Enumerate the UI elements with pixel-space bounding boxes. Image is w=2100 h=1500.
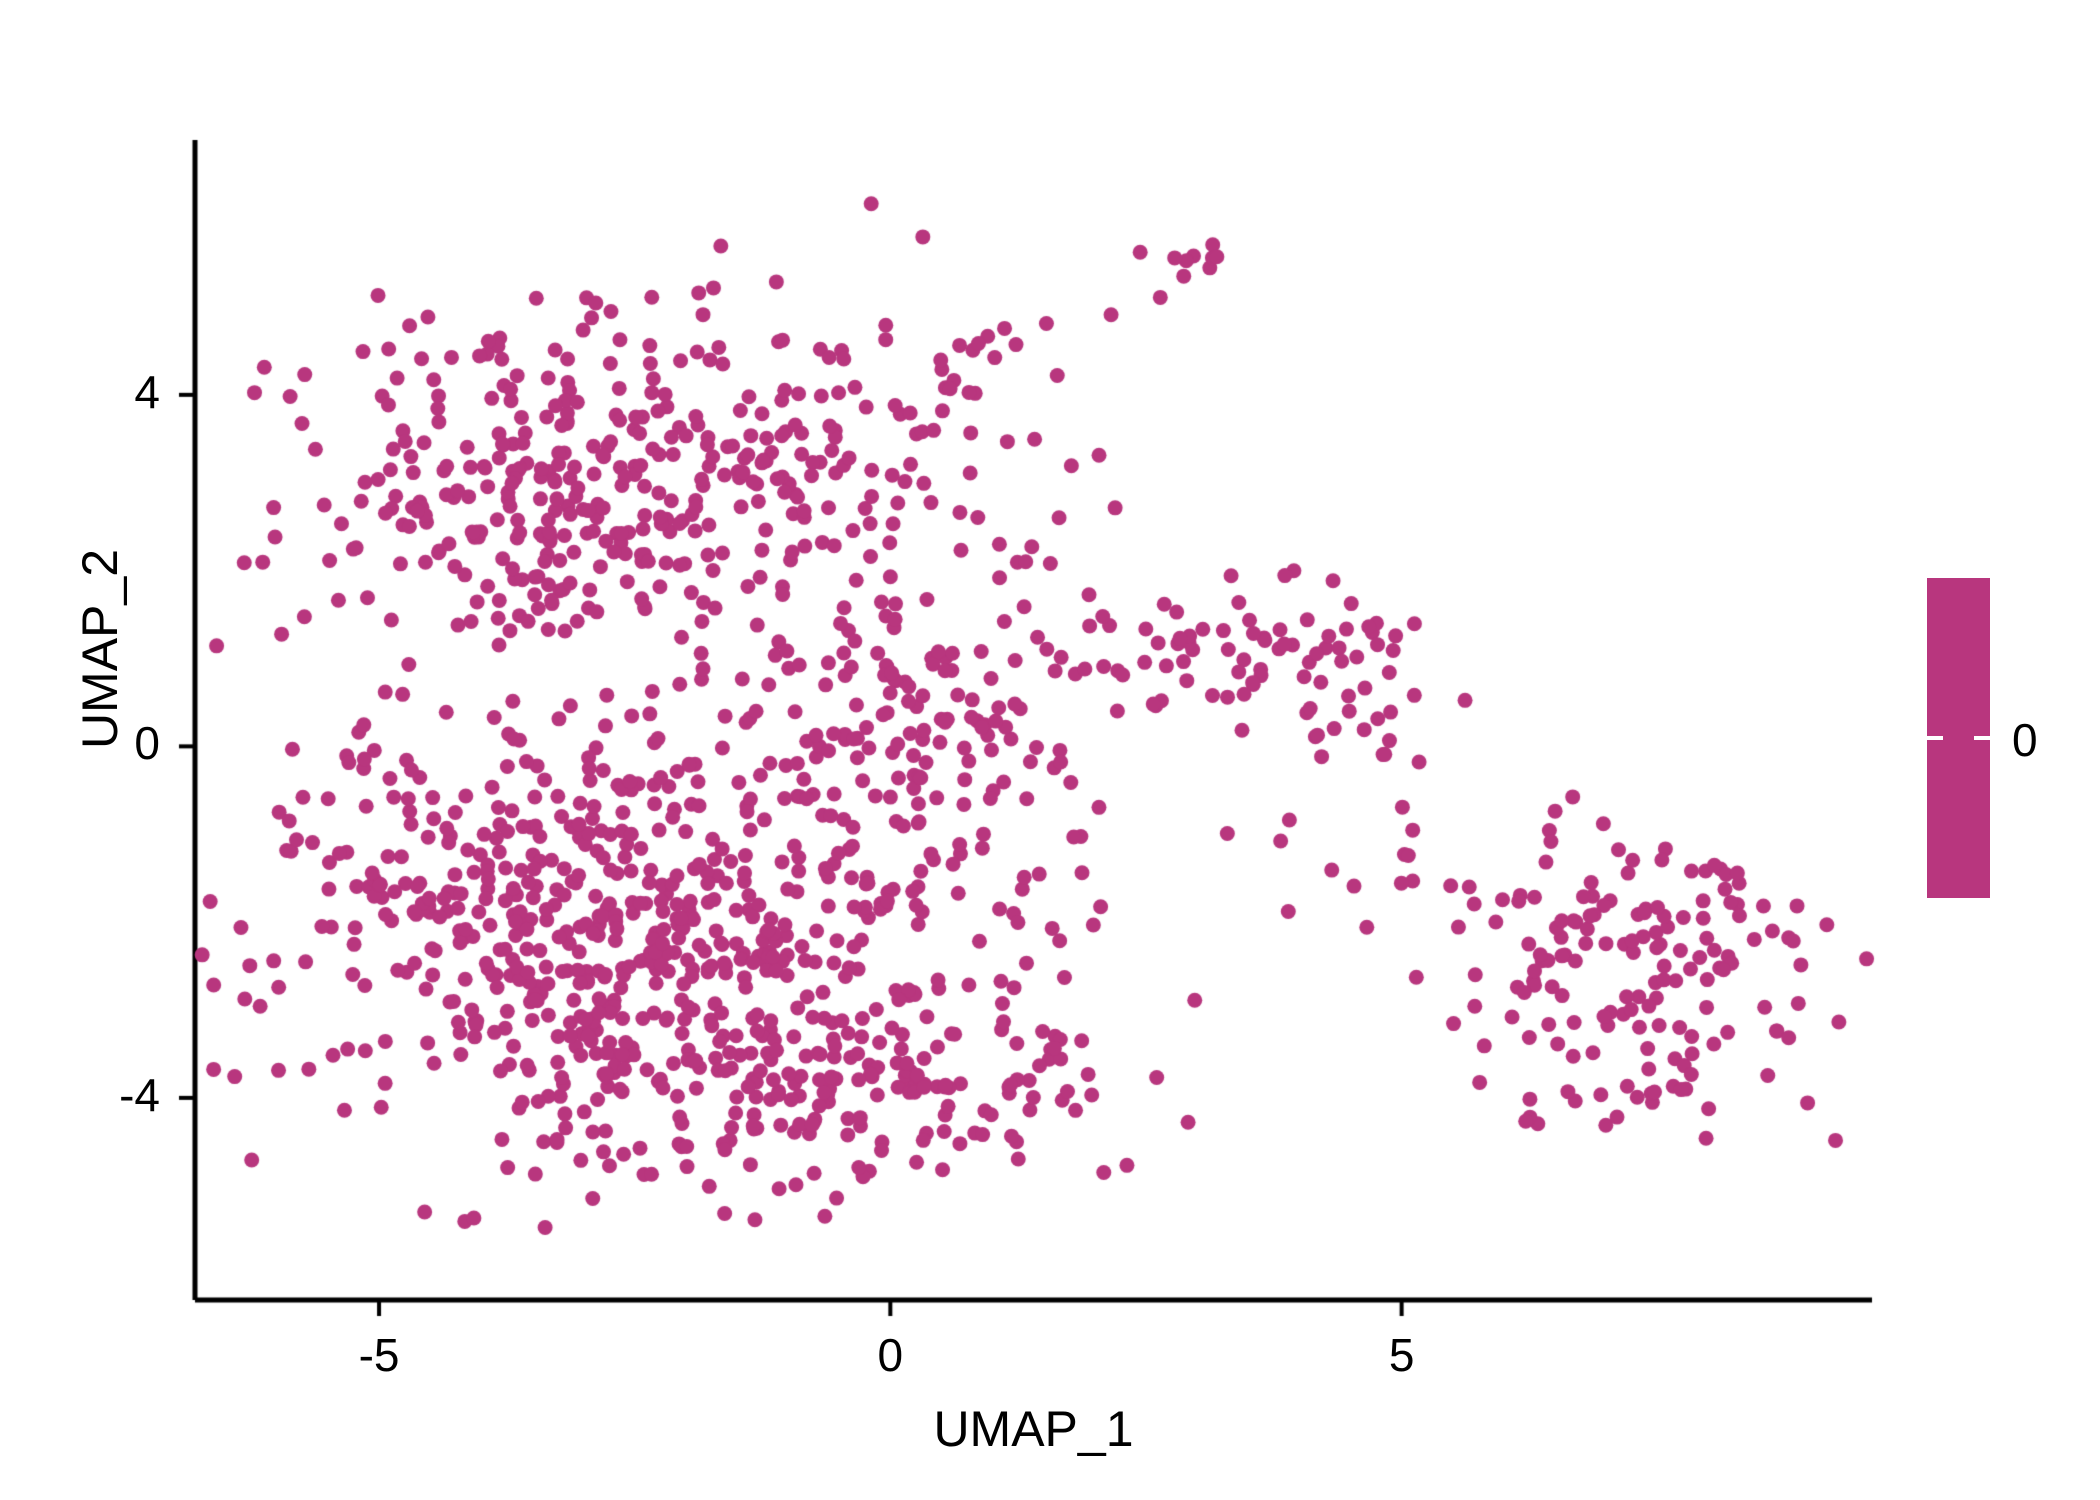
- colorbar-tick-left: [1927, 736, 1943, 740]
- x-tick-label-5: 5: [1332, 1328, 1472, 1382]
- legend-colorbar: [1927, 578, 1990, 898]
- colorbar-tick-right: [1974, 736, 1990, 740]
- umap-feature-plot: rna_ENSSSCG00000001776 UMAP_2 UMAP_1 4 0…: [0, 0, 2100, 1500]
- y-tick-label-0: 0: [20, 716, 160, 770]
- x-axis-label: UMAP_1: [195, 1400, 1872, 1458]
- y-tick-label-4: 4: [20, 365, 160, 419]
- colorbar-tick-label-0: 0: [2012, 713, 2038, 767]
- x-tick-label-0: 0: [820, 1328, 960, 1382]
- x-tick-label-neg5: -5: [309, 1328, 449, 1382]
- y-tick-label-neg4: -4: [20, 1068, 160, 1122]
- scatter-plot-canvas: [0, 0, 2100, 1500]
